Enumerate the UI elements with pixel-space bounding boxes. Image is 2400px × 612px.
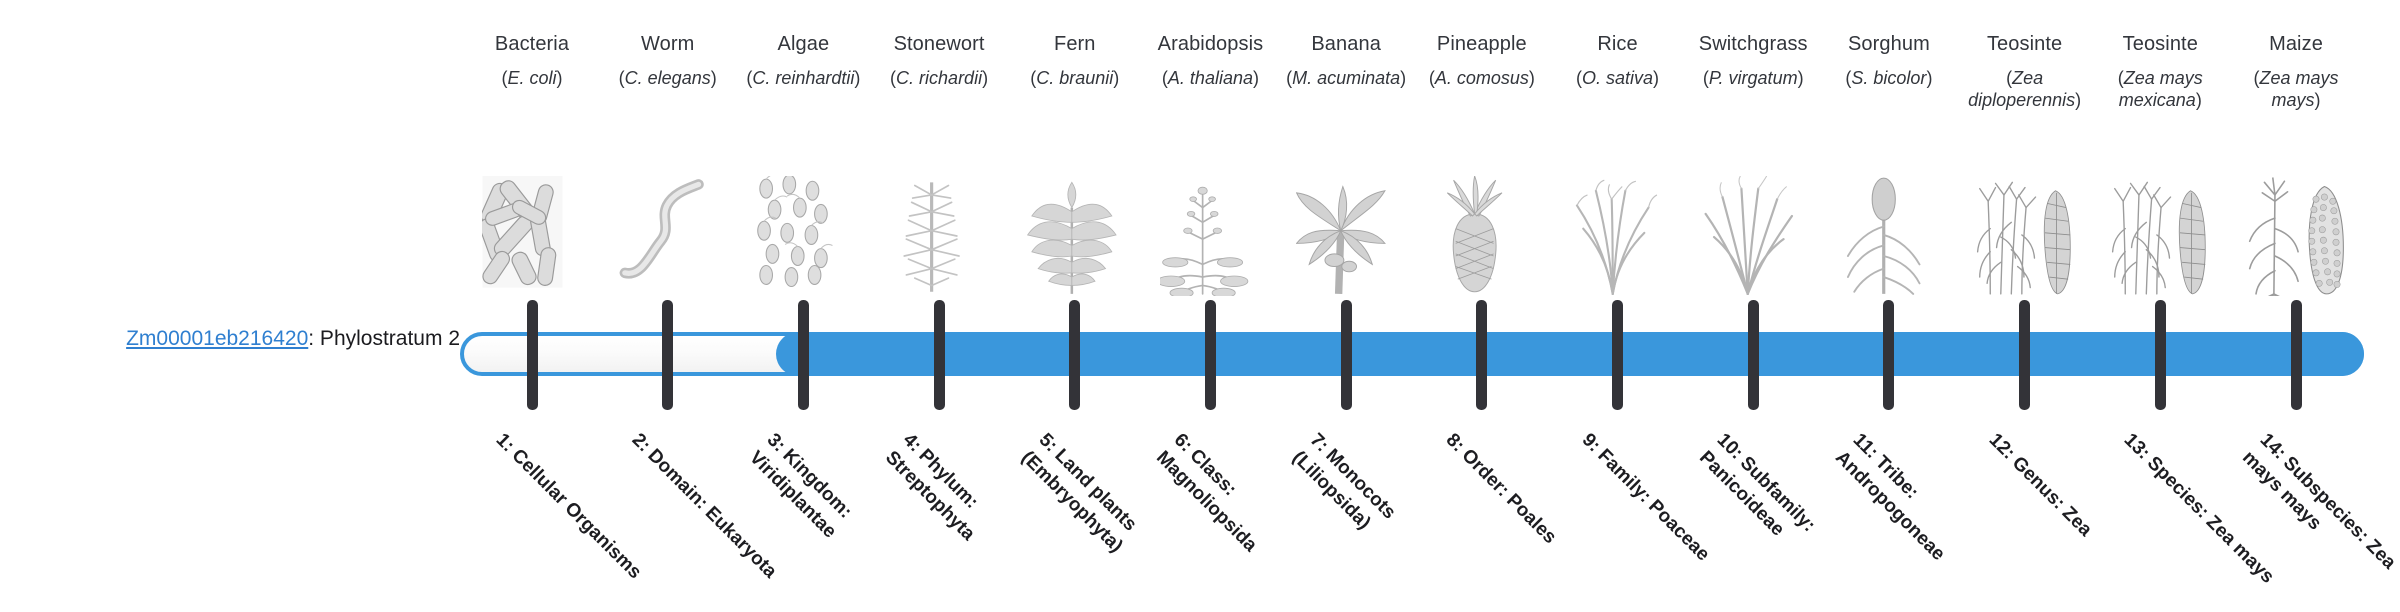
species-column-worm-1: Worm(C. elegans) [602, 32, 734, 89]
species-common-name: Banana [1280, 32, 1412, 56]
fern-illustration [1009, 168, 1141, 296]
switchgrass-illustration [1687, 168, 1819, 296]
species-column-maize-13: Maize(Zea mays mays) [2230, 32, 2362, 111]
phylostratum-bar-fill [776, 332, 2364, 376]
species-latin-name: (C. richardii) [873, 67, 1005, 89]
species-latin-name: (Zea mays mexicana) [2094, 67, 2226, 111]
species-common-name: Pineapple [1416, 32, 1548, 56]
species-common-name: Algae [737, 32, 869, 56]
species-column-bacteria-0: Bacteria(E. coli) [466, 32, 598, 89]
banana-illustration [1280, 168, 1412, 296]
phylostratum-bar[interactable] [460, 332, 2364, 376]
stratum-label-1: 1: Cellular Organisms [490, 428, 656, 594]
species-common-name: Rice [1552, 32, 1684, 56]
species-latin-name: (Zea mays mays) [2230, 67, 2362, 111]
species-latin-name: (C. elegans) [602, 67, 734, 89]
species-common-name: Teosinte [1959, 32, 2091, 56]
species-common-name: Fern [1009, 32, 1141, 56]
species-common-name: Teosinte [2094, 32, 2226, 56]
species-column-pineapple-7: Pineapple(A. comosus) [1416, 32, 1548, 89]
species-common-name: Bacteria [466, 32, 598, 56]
stratum-tick-4[interactable] [934, 300, 945, 410]
stratum-label-12: 12: Genus: Zea [1983, 428, 2149, 594]
worm-illustration [602, 168, 734, 296]
species-latin-name: (A. thaliana) [1144, 67, 1276, 89]
stratum-tick-5[interactable] [1069, 300, 1080, 410]
arabidopsis-illustration [1144, 168, 1276, 296]
gene-accession-link[interactable]: Zm00001eb216420 [126, 327, 308, 350]
stratum-tick-12[interactable] [2019, 300, 2030, 410]
species-column-teosinte-12: Teosinte(Zea mays mexicana) [2094, 32, 2226, 111]
species-latin-name: (S. bicolor) [1823, 67, 1955, 89]
rice-illustration [1552, 168, 1684, 296]
stratum-tick-8[interactable] [1476, 300, 1487, 410]
species-latin-name: (C. reinhardtii) [737, 67, 869, 89]
species-common-name: Sorghum [1823, 32, 1955, 56]
teosinte-mexicana-illustration [2094, 168, 2226, 296]
species-column-arabidopsis-5: Arabidopsis(A. thaliana) [1144, 32, 1276, 89]
species-column-sorghum-10: Sorghum(S. bicolor) [1823, 32, 1955, 89]
species-common-name: Arabidopsis [1144, 32, 1276, 56]
species-common-name: Maize [2230, 32, 2362, 56]
pineapple-illustration [1416, 168, 1548, 296]
phylostratigraphy-figure: Zm00001eb216420: Phylostratum 2 Bacteria… [0, 0, 2400, 580]
gene-phylostratum-text: : Phylostratum 2 [308, 327, 460, 350]
species-latin-name: (O. sativa) [1552, 67, 1684, 89]
species-column-algae-2: Algae(C. reinhardtii) [737, 32, 869, 89]
bacteria-illustration [466, 168, 598, 296]
species-column-rice-8: Rice(O. sativa) [1552, 32, 1684, 89]
species-latin-name: (A. comosus) [1416, 67, 1548, 89]
sorghum-illustration [1823, 168, 1955, 296]
stratum-tick-2[interactable] [662, 300, 673, 410]
species-common-name: Switchgrass [1687, 32, 1819, 56]
stratum-label-8: 8: Order: Poales [1440, 428, 1606, 594]
species-latin-name: (M. acuminata) [1280, 67, 1412, 89]
gene-row-label: Zm00001eb216420: Phylostratum 2 [40, 326, 460, 352]
species-common-name: Stonewort [873, 32, 1005, 56]
maize-illustration [2230, 168, 2362, 296]
species-column-switchgrass-9: Switchgrass(P. virgatum) [1687, 32, 1819, 89]
stratum-tick-6[interactable] [1205, 300, 1216, 410]
species-column-banana-6: Banana(M. acuminata) [1280, 32, 1412, 89]
species-latin-name: (Zea diploperennis) [1959, 67, 2091, 111]
stratum-tick-1[interactable] [527, 300, 538, 410]
species-latin-name: (P. virgatum) [1687, 67, 1819, 89]
stratum-tick-14[interactable] [2291, 300, 2302, 410]
stratum-tick-3[interactable] [798, 300, 809, 410]
stratum-tick-11[interactable] [1883, 300, 1894, 410]
species-column-fern-4: Fern(C. braunii) [1009, 32, 1141, 89]
stratum-tick-13[interactable] [2155, 300, 2166, 410]
species-latin-name: (C. braunii) [1009, 67, 1141, 89]
stratum-tick-7[interactable] [1341, 300, 1352, 410]
stratum-tick-9[interactable] [1612, 300, 1623, 410]
algae-illustration [737, 168, 869, 296]
stratum-tick-10[interactable] [1748, 300, 1759, 410]
species-column-teosinte-11: Teosinte(Zea diploperennis) [1959, 32, 2091, 111]
teosinte-diploperennis-illustration [1959, 168, 2091, 296]
stonewort-illustration [873, 168, 1005, 296]
species-latin-name: (E. coli) [466, 67, 598, 89]
species-common-name: Worm [602, 32, 734, 56]
species-column-stonewort-3: Stonewort(C. richardii) [873, 32, 1005, 89]
